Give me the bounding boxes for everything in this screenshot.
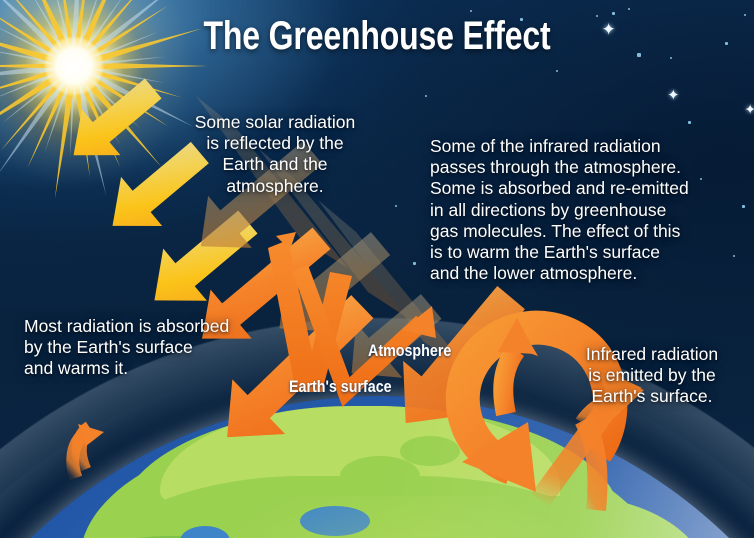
page-title: The Greenhouse Effect bbox=[75, 14, 678, 59]
annotation-solar-reflected: Some solar radiation is reflected by the… bbox=[150, 112, 400, 197]
annotation-infrared-greenhouse: Some of the infrared radiation passes th… bbox=[430, 136, 730, 284]
annotation-infrared-emitted: Infrared radiation is emitted by the Ear… bbox=[554, 344, 750, 408]
label-earth-surface: Earth's surface bbox=[289, 377, 392, 397]
greenhouse-effect-diagram: ✦✦✦ bbox=[0, 0, 754, 538]
label-atmosphere: Atmosphere bbox=[368, 341, 451, 361]
annotation-most-absorbed: Most radiation is absorbed by the Earth'… bbox=[24, 316, 304, 380]
